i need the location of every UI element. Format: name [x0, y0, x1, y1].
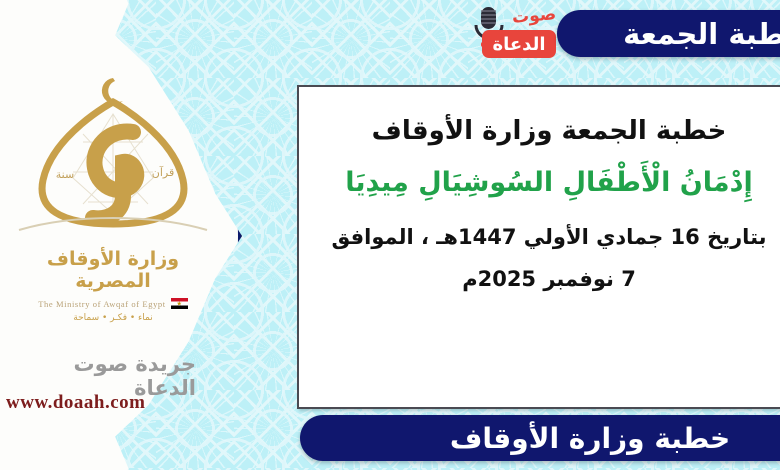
content-card: خطبة الجمعة وزارة الأوقاف إِدْمَانُ الْأ…	[297, 85, 780, 409]
banner-top-label: خطبة الجمعة	[623, 17, 780, 51]
card-title: خطبة الجمعة وزارة الأوقاف	[325, 115, 773, 149]
poster-root: قرآن سنة وزارة الأوقاف المصرية The Minis…	[0, 0, 780, 470]
card-date-gregorian: 7 نوفمبر 2025م	[325, 265, 773, 294]
ministry-name-english: The Ministry of Awqaf of Egypt	[38, 299, 165, 309]
ministry-name-english-row: The Ministry of Awqaf of Egypt	[8, 298, 218, 309]
ministry-motto: نماء • فكـر • سماحة	[8, 313, 218, 323]
logo-word-quran: قرآن	[152, 165, 174, 179]
website-url[interactable]: www.doaah.com	[6, 392, 196, 414]
logo-word-sunnah: سنة	[56, 168, 74, 181]
ministry-logo: قرآن سنة وزارة الأوقاف المصرية The Minis…	[8, 72, 218, 322]
sout-aldoaah-logo: صوت الدعاة	[466, 4, 558, 62]
mosque-dome-icon: قرآن سنة	[13, 72, 213, 252]
card-date-hijri: بتاريخ 16 جمادي الأولي 1447هـ ، الموافق	[325, 223, 773, 252]
logo-word-sout: صوت	[511, 4, 557, 28]
banner-khutbat-wizarat-alawqaf: خطبة وزارة الأوقاف	[300, 415, 780, 461]
banner-khutbat-aljumuah: خطبة الجمعة	[557, 10, 780, 57]
ministry-name-arabic: وزارة الأوقاف المصرية	[8, 248, 218, 292]
card-topic: إِدْمَانُ الْأَطْفَالِ السُوشِيَالِ مِيد…	[325, 165, 773, 201]
content-card-inner: خطبة الجمعة وزارة الأوقاف إِدْمَانُ الْأ…	[299, 87, 780, 294]
egypt-flag-icon	[171, 298, 188, 309]
logo-word-aldoaah: الدعاة	[482, 30, 556, 58]
banner-bottom-label: خطبة وزارة الأوقاف	[450, 422, 730, 455]
